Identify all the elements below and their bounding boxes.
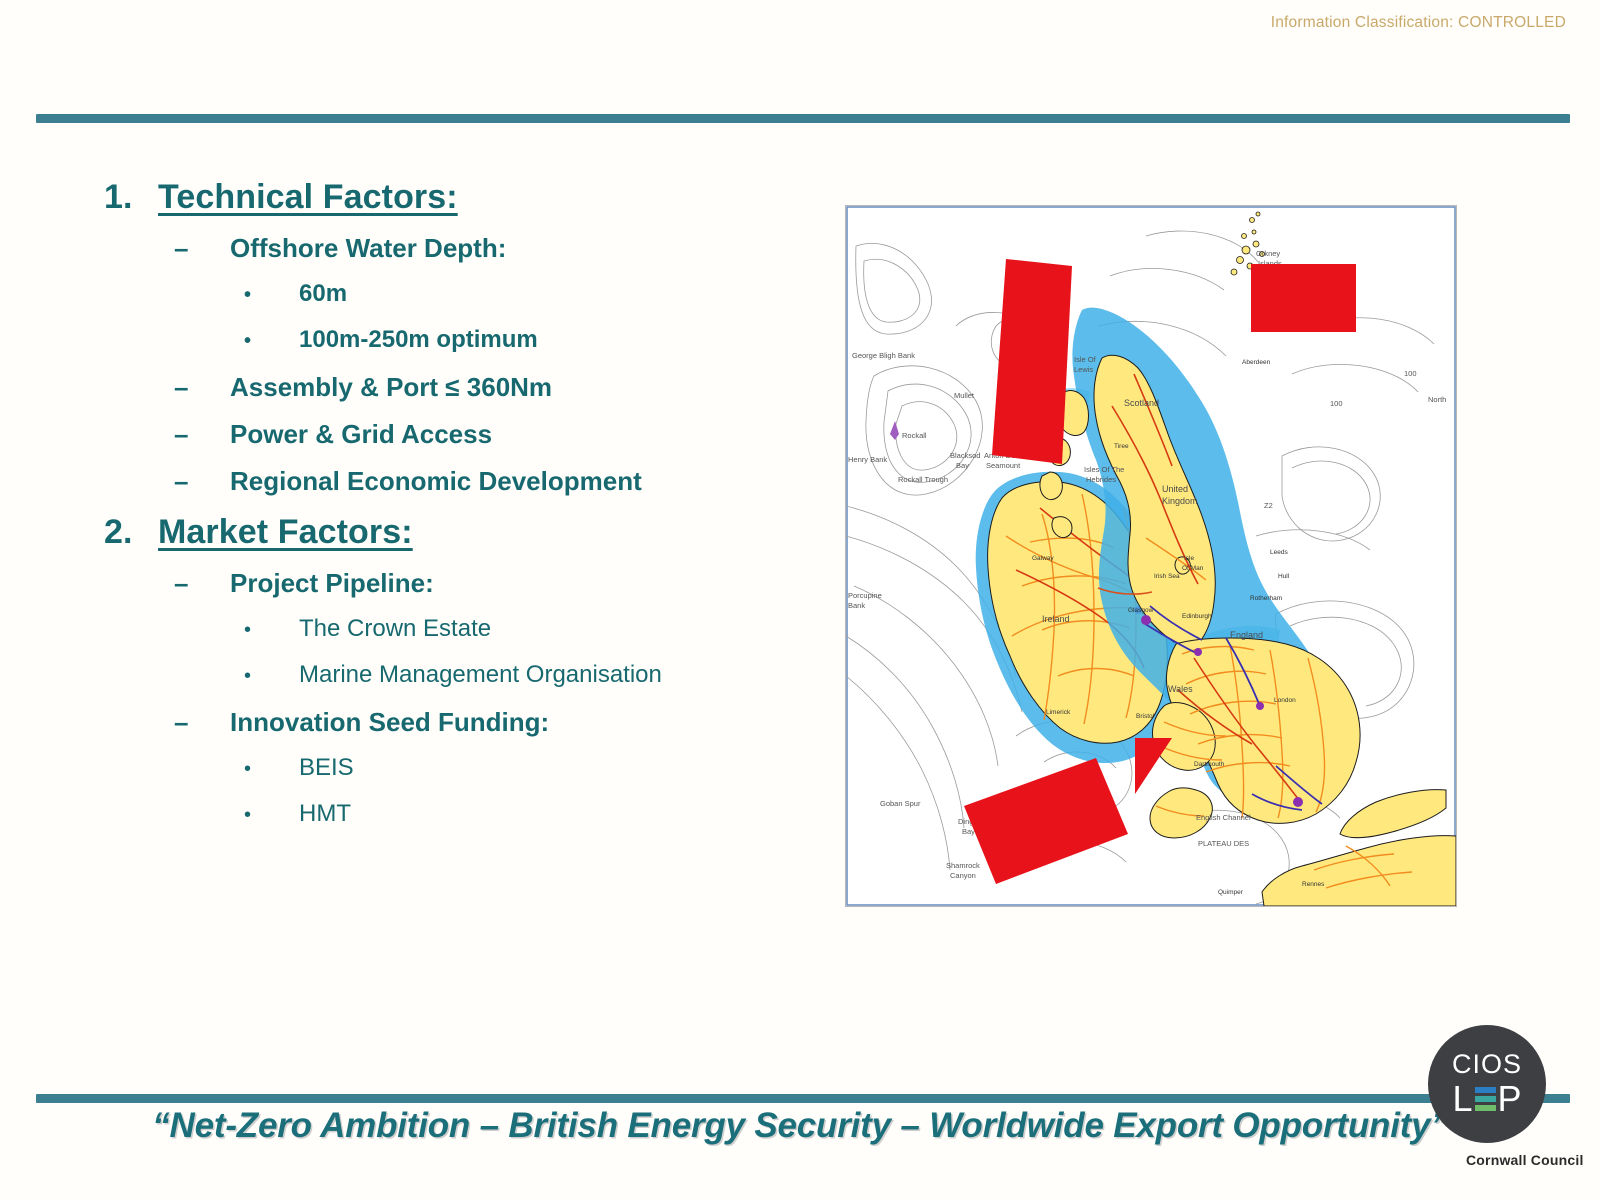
bullet-content: 1. Technical Factors: – Offshore Water D… xyxy=(104,178,824,846)
svg-text:Isle: Isle xyxy=(1184,555,1195,562)
svg-text:Rennes: Rennes xyxy=(1302,881,1325,888)
svg-text:100: 100 xyxy=(1330,399,1343,408)
list-item-label: 100m-250m optimum xyxy=(299,326,538,354)
svg-text:George Bligh Bank: George Bligh Bank xyxy=(852,351,915,360)
svg-text:Kingdom: Kingdom xyxy=(1162,496,1198,506)
dash-marker: – xyxy=(174,372,230,403)
svg-text:Bay: Bay xyxy=(956,461,969,470)
svg-text:Wales: Wales xyxy=(1168,684,1193,694)
list-item-label: The Crown Estate xyxy=(299,615,491,643)
svg-text:Isle Of: Isle Of xyxy=(1074,355,1097,364)
svg-text:Hull: Hull xyxy=(1278,573,1290,580)
svg-text:Bank: Bank xyxy=(848,601,865,610)
svg-text:Lewis: Lewis xyxy=(1074,365,1093,374)
svg-text:Edinburgh: Edinburgh xyxy=(1182,613,1212,620)
bullet-marker: • xyxy=(244,620,299,640)
logo-bars-e-icon xyxy=(1475,1085,1496,1113)
svg-text:Rockall Trough: Rockall Trough xyxy=(898,475,948,484)
svg-text:Bristol: Bristol xyxy=(1136,713,1155,720)
svg-text:Rockall: Rockall xyxy=(902,431,927,440)
svg-text:Henry Bank: Henry Bank xyxy=(848,455,887,464)
svg-text:Mullet: Mullet xyxy=(954,391,975,400)
bullet-marker: • xyxy=(244,331,299,351)
svg-text:Quimper: Quimper xyxy=(1218,889,1244,896)
list-item-assembly-and-port: – Assembly & Port ≤ 360Nm xyxy=(104,372,824,403)
svg-text:Scotland: Scotland xyxy=(1124,398,1159,408)
svg-text:Porcupine: Porcupine xyxy=(848,591,882,600)
list-item-label: 60m xyxy=(299,280,347,308)
dash-marker: – xyxy=(174,419,230,450)
svg-text:Of Man: Of Man xyxy=(1182,565,1204,572)
list-item-beis: • BEIS xyxy=(104,754,824,782)
list-item-60m: • 60m xyxy=(104,280,824,308)
slide-canvas: Information Classification: CONTROLLED 1… xyxy=(0,0,1600,1200)
svg-text:Orkney: Orkney xyxy=(1256,249,1280,258)
cios-lep-logo: CIOS L P xyxy=(1428,1025,1546,1143)
svg-text:Galway: Galway xyxy=(1032,555,1054,562)
svg-text:Ireland: Ireland xyxy=(1042,614,1070,624)
svg-text:Glasgow: Glasgow xyxy=(1128,607,1154,614)
list-item-label: Innovation Seed Funding: xyxy=(230,707,549,738)
svg-text:Z2: Z2 xyxy=(1264,501,1273,510)
list-item-power-and-grid-access: – Power & Grid Access xyxy=(104,419,824,450)
uk-ireland-bathymetric-map: .sea { fill:#ffffff; } .contour { fill:n… xyxy=(845,205,1457,907)
svg-text:Limerick: Limerick xyxy=(1046,709,1071,716)
svg-text:Blacksod: Blacksod xyxy=(950,451,980,460)
list-item-100m-250m-optimum: • 100m-250m optimum xyxy=(104,326,824,354)
section-title: Technical Factors: xyxy=(158,178,458,217)
svg-text:Rotherham: Rotherham xyxy=(1250,595,1282,602)
list-item-label: Marine Management Organisation xyxy=(299,661,662,689)
list-item-label: Offshore Water Depth: xyxy=(230,233,506,264)
svg-text:North: North xyxy=(1428,395,1446,404)
classification-banner: Information Classification: CONTROLLED xyxy=(1271,14,1566,32)
list-item-regional-economic-development: – Regional Economic Development xyxy=(104,466,824,497)
svg-text:Canyon: Canyon xyxy=(950,871,976,880)
dash-marker: – xyxy=(174,233,230,264)
dash-marker: – xyxy=(174,707,230,738)
logo-cios-text: CIOS xyxy=(1452,1051,1522,1078)
logo-lep-row: L P xyxy=(1452,1081,1521,1117)
svg-text:Dartmouth: Dartmouth xyxy=(1194,761,1225,768)
bottom-divider-rule xyxy=(36,1094,1570,1103)
section-number: 2. xyxy=(104,513,158,552)
bullet-marker: • xyxy=(244,285,299,305)
list-item-innovation-seed-funding: – Innovation Seed Funding: xyxy=(104,707,824,738)
footer-tagline: “Net-Zero Ambition – British Energy Secu… xyxy=(0,1106,1600,1146)
svg-text:England: England xyxy=(1230,630,1263,640)
list-item-label: Assembly & Port ≤ 360Nm xyxy=(230,372,552,403)
logo-letter-l: L xyxy=(1452,1081,1472,1117)
section-heading-technical-factors: 1. Technical Factors: xyxy=(104,178,824,217)
svg-text:Shamrock: Shamrock xyxy=(946,861,980,870)
svg-text:Aberdeen: Aberdeen xyxy=(1242,359,1271,366)
cornwall-council-label: Cornwall Council xyxy=(1466,1152,1584,1168)
section-heading-market-factors: 2. Market Factors: xyxy=(104,513,824,552)
dash-marker: – xyxy=(174,466,230,497)
logo-letter-p: P xyxy=(1498,1081,1522,1117)
svg-text:London: London xyxy=(1274,697,1296,704)
bullet-marker: • xyxy=(244,666,299,686)
svg-text:Hebrides: Hebrides xyxy=(1086,475,1116,484)
svg-text:Leeds: Leeds xyxy=(1270,549,1288,556)
svg-text:Isles Of The: Isles Of The xyxy=(1084,465,1124,474)
section-number: 1. xyxy=(104,178,158,217)
list-item-label: BEIS xyxy=(299,754,354,782)
svg-text:Irish Sea: Irish Sea xyxy=(1154,573,1180,580)
list-item-the-crown-estate: • The Crown Estate xyxy=(104,615,824,643)
list-item-label: HMT xyxy=(299,800,351,828)
section-title: Market Factors: xyxy=(158,513,413,552)
bullet-marker: • xyxy=(244,759,299,779)
svg-text:100: 100 xyxy=(1404,369,1417,378)
svg-text:English Channel: English Channel xyxy=(1196,813,1251,822)
svg-text:PLATEAU DES: PLATEAU DES xyxy=(1198,839,1249,848)
list-item-marine-management-organisation: • Marine Management Organisation xyxy=(104,661,824,689)
svg-text:Goban Spur: Goban Spur xyxy=(880,799,921,808)
svg-text:United: United xyxy=(1162,484,1188,494)
list-item-label: Regional Economic Development xyxy=(230,466,642,497)
top-divider-rule xyxy=(36,114,1570,123)
list-item-label: Project Pipeline: xyxy=(230,568,434,599)
svg-text:Tiree: Tiree xyxy=(1114,443,1129,450)
list-item-label: Power & Grid Access xyxy=(230,419,492,450)
dash-marker: – xyxy=(174,568,230,599)
bullet-marker: • xyxy=(244,805,299,825)
list-item-offshore-water-depth: – Offshore Water Depth: xyxy=(104,233,824,264)
list-item-hmt: • HMT xyxy=(104,800,824,828)
list-item-project-pipeline: – Project Pipeline: xyxy=(104,568,824,599)
svg-text:Seamount: Seamount xyxy=(986,461,1021,470)
